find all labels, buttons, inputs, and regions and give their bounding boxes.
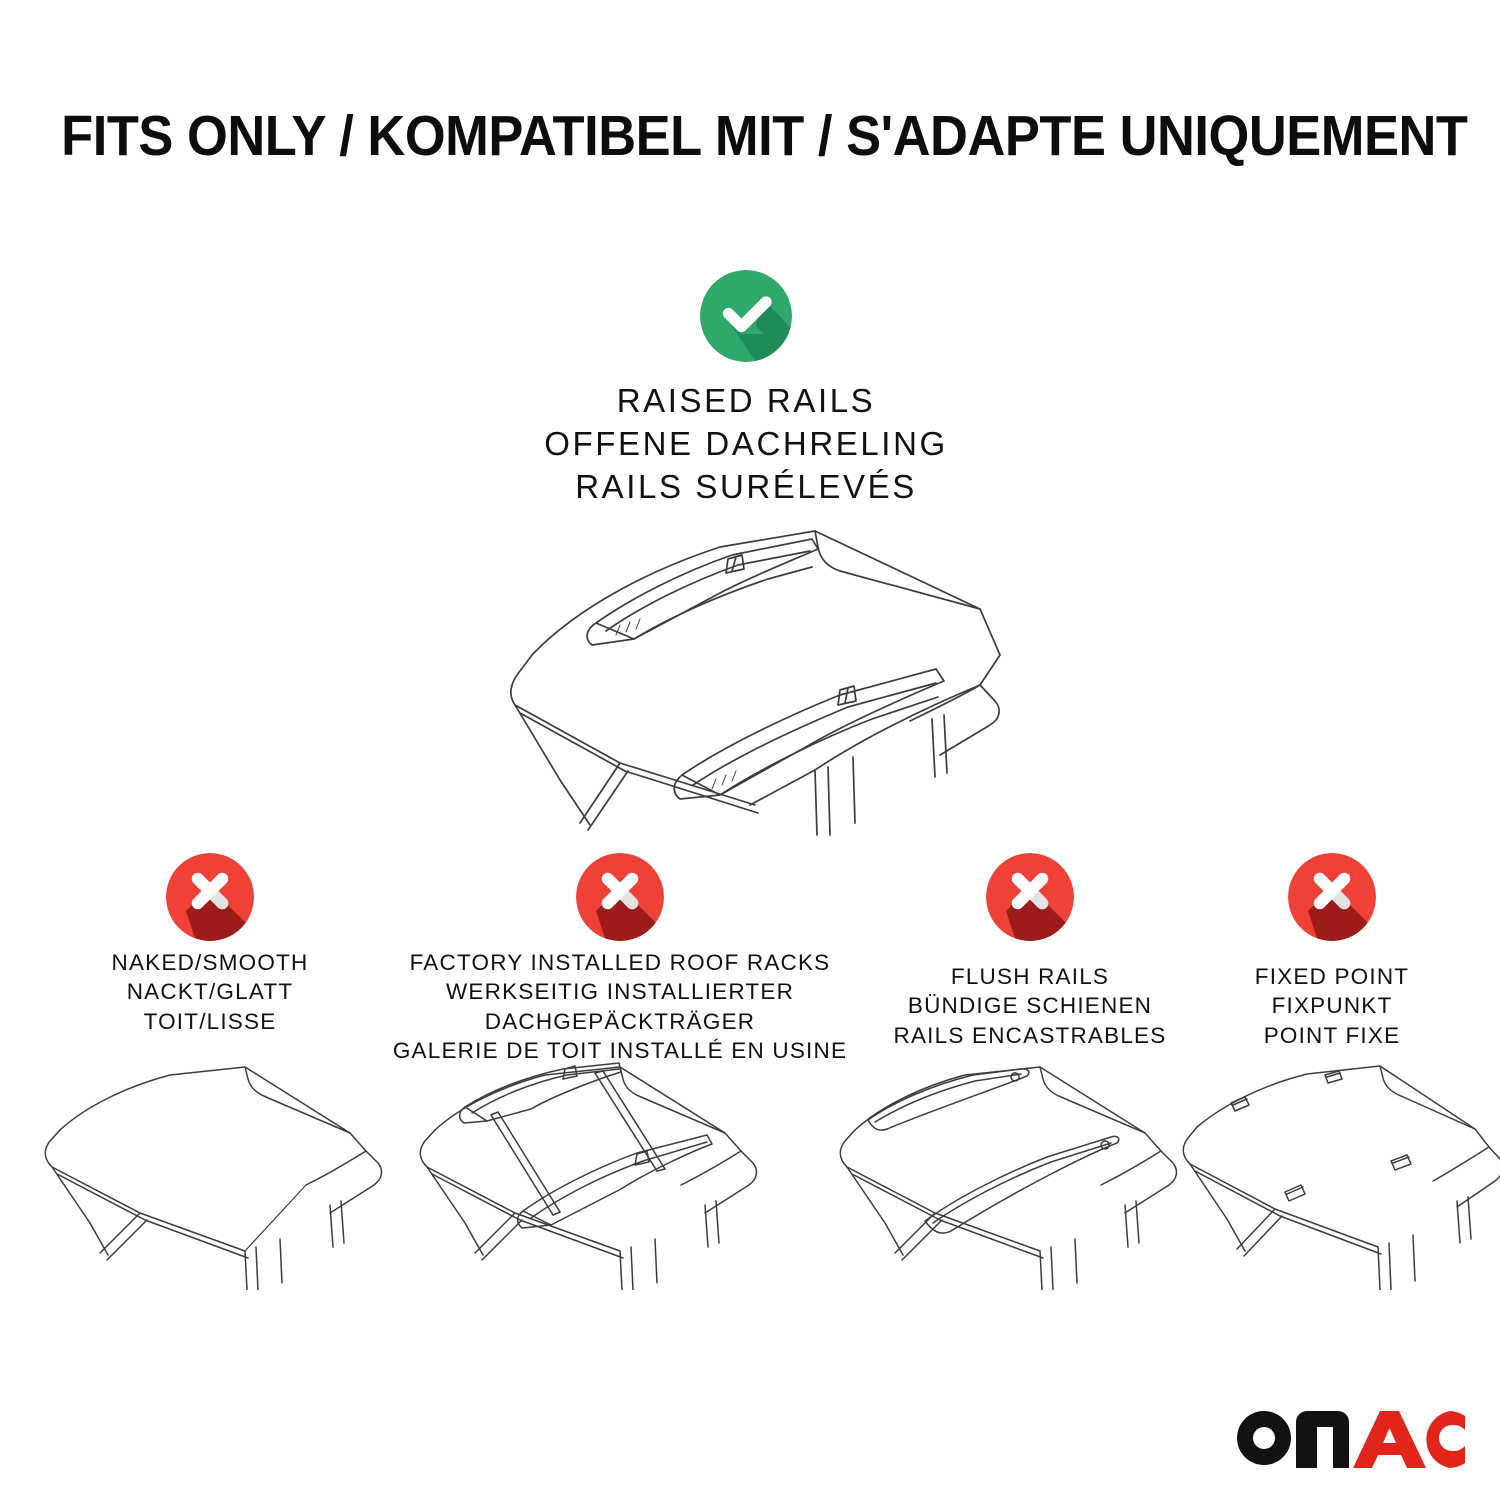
compatible-caption-line-3: RAILS SURÉLEVÉS bbox=[446, 466, 1046, 509]
incompatible-caption-3: FLUSH RAILS BÜNDIGE SCHIENEN RAILS ENCAS… bbox=[845, 962, 1215, 1050]
incompatible-caption-4: FIXED POINT FIXPUNKT POINT FIXE bbox=[1182, 962, 1482, 1050]
incompatible-1-line-1: NAKED/SMOOTH bbox=[20, 948, 400, 977]
incompatible-4-line-2: FIXPUNKT bbox=[1182, 991, 1482, 1020]
cross-glyph bbox=[576, 853, 664, 941]
cross-circle-icon bbox=[1288, 853, 1376, 941]
car-roof-flush-rails-illustration bbox=[825, 1055, 1225, 1290]
page-title-text: FITS ONLY / KOMPATIBEL MIT / S'ADAPTE UN… bbox=[61, 108, 1467, 165]
incompatible-3-line-1: FLUSH RAILS bbox=[845, 962, 1215, 991]
cross-glyph bbox=[166, 853, 254, 941]
incompatible-3-line-2: BÜNDIGE SCHIENEN bbox=[845, 991, 1215, 1020]
incompatible-3-line-3: RAILS ENCASTRABLES bbox=[845, 1021, 1215, 1050]
incompatible-1-line-2: NACKT/GLATT bbox=[20, 977, 400, 1006]
compatible-caption-line-1: RAISED RAILS bbox=[446, 380, 1046, 423]
incompatible-2-line-1: FACTORY INSTALLED ROOF RACKS bbox=[390, 948, 850, 977]
check-circle-icon bbox=[700, 270, 792, 362]
incompatible-4-line-1: FIXED POINT bbox=[1182, 962, 1482, 991]
car-roof-raised-rails-illustration bbox=[420, 505, 1120, 845]
incompatible-4-line-3: POINT FIXE bbox=[1182, 1021, 1482, 1050]
cross-circle-icon bbox=[576, 853, 664, 941]
cross-circle-icon bbox=[166, 853, 254, 941]
car-roof-fixed-point-illustration bbox=[1175, 1055, 1500, 1290]
incompatible-caption-1: NAKED/SMOOTH NACKT/GLATT TOIT/LISSE bbox=[20, 948, 400, 1036]
cross-circle-icon bbox=[986, 853, 1074, 941]
check-glyph bbox=[700, 270, 792, 362]
incompatible-2-line-3: DACHGEPÄCKTRÄGER bbox=[390, 1007, 850, 1036]
car-roof-naked-smooth-illustration bbox=[30, 1055, 430, 1290]
cross-glyph bbox=[986, 853, 1074, 941]
car-roof-factory-racks-illustration bbox=[405, 1055, 805, 1290]
omac-logo bbox=[1233, 1398, 1465, 1468]
incompatible-1-line-3: TOIT/LISSE bbox=[20, 1007, 400, 1036]
cross-glyph bbox=[1288, 853, 1376, 941]
page-title: FITS ONLY / KOMPATIBEL MIT / S'ADAPTE UN… bbox=[0, 108, 1500, 165]
incompatible-caption-2: FACTORY INSTALLED ROOF RACKS WERKSEITIG … bbox=[390, 948, 850, 1065]
incompatible-2-line-2: WERKSEITIG INSTALLIERTER bbox=[390, 977, 850, 1006]
compatible-caption-line-2: OFFENE DACHRELING bbox=[446, 423, 1046, 466]
compatible-caption: RAISED RAILS OFFENE DACHRELING RAILS SUR… bbox=[446, 380, 1046, 509]
